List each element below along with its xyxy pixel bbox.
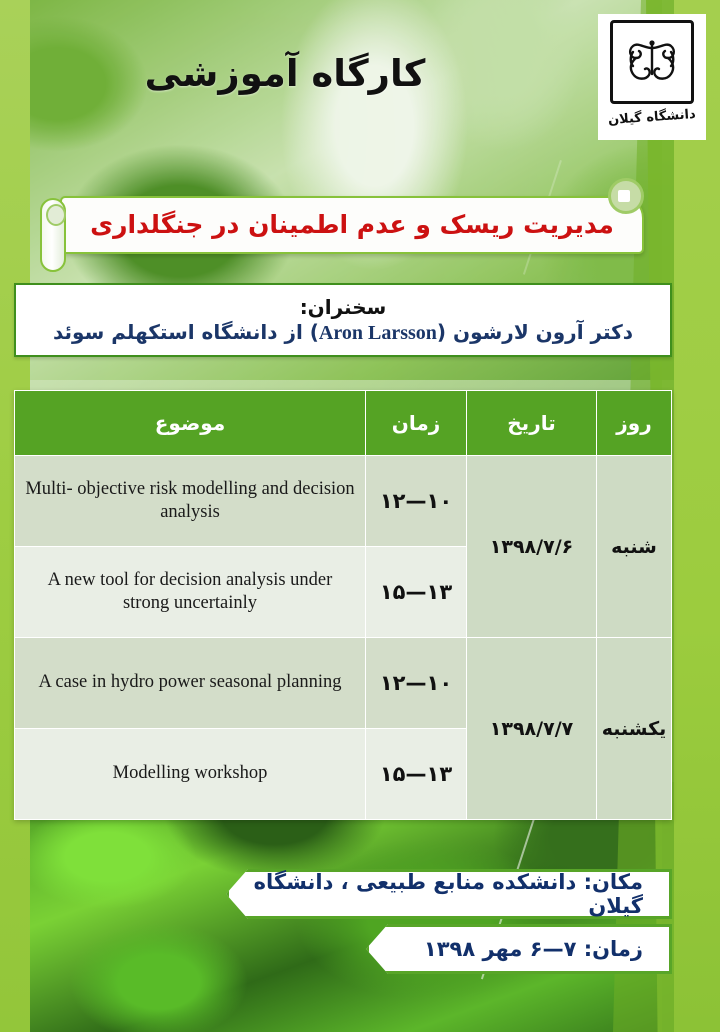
cell-time-1: ۱۰—۱۲ — [366, 456, 467, 547]
page-title: کارگاه آموزشی — [0, 52, 570, 95]
schedule-table: روز تاریخ زمان موضوع شنبه ۱۳۹۸/۷/۶ ۱۰—۱۲… — [14, 390, 672, 820]
cell-subject-2: A new tool for decision analysis under s… — [15, 547, 366, 638]
table-row: یکشنبه ۱۳۹۸/۷/۷ ۱۰—۱۲ A case in hydro po… — [15, 638, 672, 729]
scroll-roll-icon — [40, 198, 66, 272]
main-title-banner: مدیریت ریسک و عدم اطمینان در جنگلداری — [34, 196, 644, 254]
main-title-plate: مدیریت ریسک و عدم اطمینان در جنگلداری — [60, 196, 644, 254]
scroll-curl-icon — [608, 178, 644, 214]
table-row: شنبه ۱۳۹۸/۷/۶ ۱۰—۱۲ Multi- objective ris… — [15, 456, 672, 547]
cell-subject-3: A case in hydro power seasonal planning — [15, 638, 366, 729]
cell-time-3: ۱۰—۱۲ — [366, 638, 467, 729]
cell-date-2: ۱۳۹۸/۷/۷ — [467, 638, 597, 820]
speaker-name-suffix: ) از دانشگاه استکهلم سوئد — [53, 320, 319, 344]
workshop-poster: کارگاه آموزشی دانشگاه گیلان مدیریت ریس — [0, 0, 720, 1032]
university-logo-caption: دانشگاه گیلان — [608, 107, 697, 128]
cell-subject-1: Multi- objective risk modelling and deci… — [15, 456, 366, 547]
cell-day-1: شنبه — [597, 456, 672, 638]
university-logo: دانشگاه گیلان — [598, 14, 706, 140]
date-banner: زمان: ۷—۶ مهر ۱۳۹۸ — [366, 924, 672, 974]
speaker-box: سخنران: دکتر آرون لارشون (Aron Larsson) … — [14, 283, 672, 357]
schedule-table-head: روز تاریخ زمان موضوع — [15, 391, 672, 456]
speaker-name-prefix: دکتر آرون لارشون ( — [437, 320, 633, 344]
cell-time-2: ۱۳—۱۵ — [366, 547, 467, 638]
cell-subject-4: Modelling workshop — [15, 729, 366, 820]
schedule-table-wrapper: روز تاریخ زمان موضوع شنبه ۱۳۹۸/۷/۶ ۱۰—۱۲… — [14, 390, 672, 820]
right-outer-band — [674, 0, 720, 1032]
column-header-date: تاریخ — [467, 391, 597, 456]
speaker-label: سخنران: — [300, 295, 387, 319]
speaker-name: دکتر آرون لارشون (Aron Larsson) از دانشگ… — [53, 320, 633, 345]
column-header-time: زمان — [366, 391, 467, 456]
university-emblem-icon — [610, 20, 694, 104]
main-title-text: مدیریت ریسک و عدم اطمینان در جنگلداری — [90, 210, 614, 241]
column-header-day: روز — [597, 391, 672, 456]
column-header-subject: موضوع — [15, 391, 366, 456]
schedule-table-body: شنبه ۱۳۹۸/۷/۶ ۱۰—۱۲ Multi- objective ris… — [15, 456, 672, 820]
cell-day-2: یکشنبه — [597, 638, 672, 820]
speaker-name-latin: Aron Larsson — [319, 322, 437, 344]
cell-date-1: ۱۳۹۸/۷/۶ — [467, 456, 597, 638]
table-header-row: روز تاریخ زمان موضوع — [15, 391, 672, 456]
cell-time-4: ۱۳—۱۵ — [366, 729, 467, 820]
location-banner: مکان: دانشکده منابع طبیعی ، دانشگاه گیلا… — [226, 869, 672, 919]
